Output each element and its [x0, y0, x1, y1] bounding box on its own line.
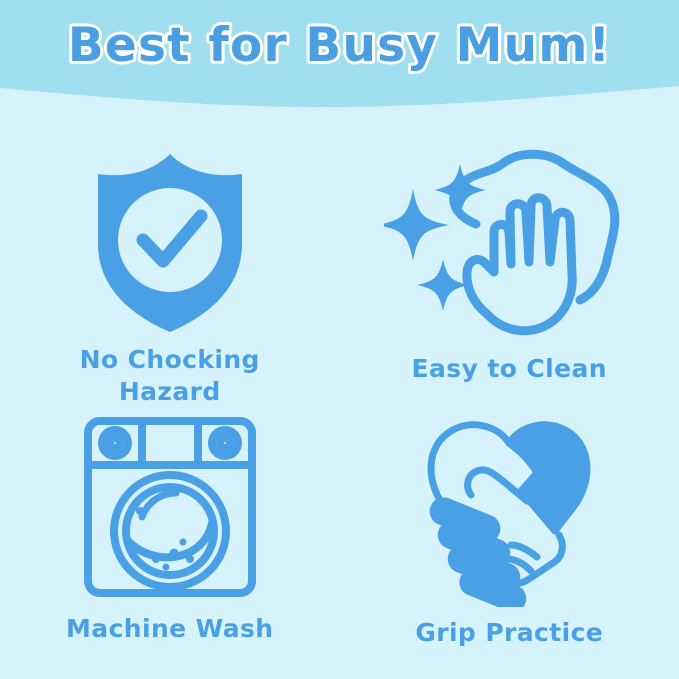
heart-handshake-icon: [409, 417, 609, 607]
left-thumb: [468, 470, 527, 501]
feature-machine-wash: Machine Wash: [0, 407, 340, 679]
feature-easy-to-clean: Easy to Clean: [340, 128, 679, 407]
bubble-dot: [162, 564, 169, 571]
door-inner-ring: [126, 487, 214, 575]
page-title: Best for Busy Mum!: [0, 18, 679, 73]
hand-wiping-cloth-sparkle-icon: [384, 146, 634, 341]
feature-caption: Easy to Clean: [412, 353, 607, 385]
knob-left-inner: [110, 438, 120, 448]
bubble-dot: [169, 549, 178, 558]
bubble-dot: [179, 539, 186, 546]
feature-grip-practice: Grip Practice: [340, 407, 679, 679]
bubble-dot: [136, 507, 144, 515]
right-finger-1: [511, 545, 537, 557]
feature-caption: Machine Wash: [66, 613, 273, 645]
grip-finger-bars: [430, 497, 527, 607]
washing-machine-icon: [70, 413, 270, 603]
feature-no-chocking-hazard: No Chocking Hazard: [0, 128, 340, 407]
infographic-root: Best for Busy Mum! No Chocking Hazard: [0, 0, 679, 679]
feature-caption: Grip Practice: [415, 617, 603, 649]
sparkle-small-bottom-icon: [417, 259, 469, 311]
shield-check-icon: [70, 148, 270, 338]
feature-caption: No Chocking Hazard: [80, 344, 260, 407]
heart-right-lobe-filled: [509, 425, 587, 531]
knob-left-outer: [102, 430, 128, 456]
knob-right-outer: [212, 430, 238, 456]
bubble-dot: [152, 555, 160, 563]
sparkle-large-left-icon: [384, 189, 449, 261]
feature-grid: No Chocking Hazard Easy to Cle: [0, 128, 679, 679]
knob-right-inner: [220, 438, 230, 448]
bubble-dot: [186, 555, 194, 563]
hand-shape: [467, 198, 572, 331]
shield-inner-circle: [118, 188, 222, 292]
